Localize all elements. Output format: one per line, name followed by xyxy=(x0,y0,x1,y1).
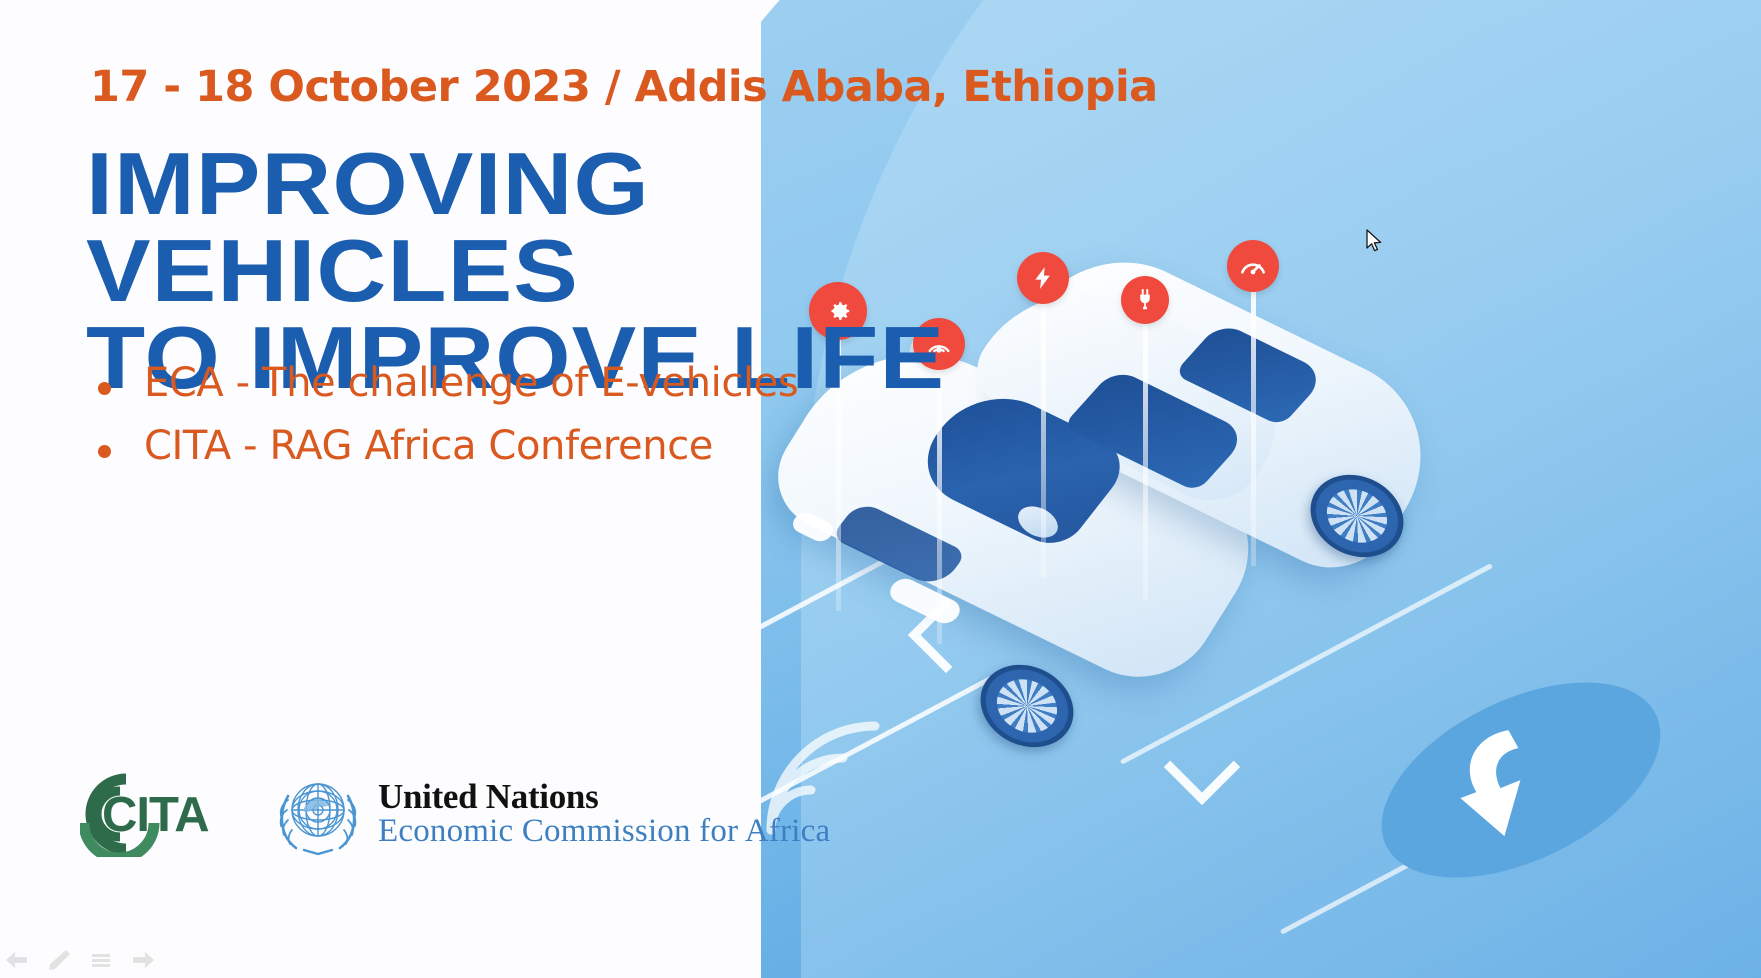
presentation-toolbar[interactable] xyxy=(4,948,156,972)
forward-arrow-icon[interactable] xyxy=(130,948,156,972)
list-item: CITA - RAG Africa Conference xyxy=(86,423,798,469)
un-eca-logo: United Nations Economic Commission for A… xyxy=(272,770,830,858)
pin-gauge[interactable] xyxy=(1227,240,1279,292)
un-logo-line2: Economic Commission for Africa xyxy=(378,815,830,849)
pin-stem xyxy=(1251,266,1256,566)
logo-row: CITA xyxy=(80,770,830,858)
pin-plug[interactable] xyxy=(1121,276,1169,324)
slide-content: 17 - 18 October 2023 / Addis Ababa, Ethi… xyxy=(0,0,1000,978)
pin-badge xyxy=(1227,240,1279,292)
bullet-list: ECA - The challenge of E-vehicles CITA -… xyxy=(86,360,798,486)
back-arrow-icon[interactable] xyxy=(4,948,30,972)
un-logo-text: United Nations Economic Commission for A… xyxy=(378,779,830,848)
pin-stem xyxy=(1143,300,1148,600)
cita-logo-text: CITA xyxy=(102,787,209,843)
list-item: ECA - The challenge of E-vehicles xyxy=(86,360,798,406)
pen-icon[interactable] xyxy=(46,948,72,972)
date-location-line: 17 - 18 October 2023 / Addis Ababa, Ethi… xyxy=(90,62,1158,112)
pin-badge xyxy=(1121,276,1169,324)
presentation-slide: 17 - 18 October 2023 / Addis Ababa, Ethi… xyxy=(0,0,1761,978)
cita-logo: CITA xyxy=(80,771,230,857)
un-emblem-icon xyxy=(272,770,364,858)
turn-arrow-icon xyxy=(1446,718,1596,848)
mouse-cursor-icon xyxy=(1366,229,1384,255)
un-logo-line1: United Nations xyxy=(378,779,830,815)
plug-icon xyxy=(1132,287,1158,313)
gauge-icon xyxy=(1238,251,1268,281)
menu-icon[interactable] xyxy=(88,948,114,972)
